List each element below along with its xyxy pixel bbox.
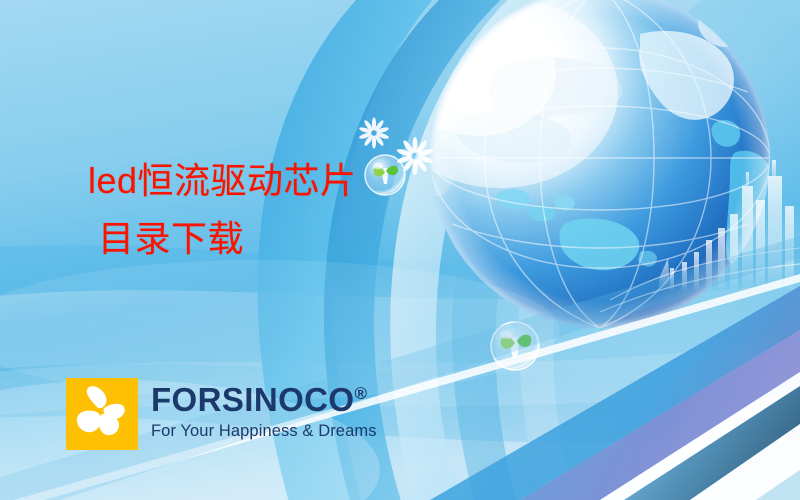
four-petal-flower-icon xyxy=(66,378,138,450)
logo-mark-tile xyxy=(66,378,138,450)
headline-line-1: led恒流驱动芯片 xyxy=(88,163,357,199)
brand-name-text: FORSINOCO xyxy=(151,381,354,418)
brand-tagline: For Your Happiness & Dreams xyxy=(151,423,377,440)
brand-name: FORSINOCO® xyxy=(151,383,377,416)
poster-canvas: led恒流驱动芯片 目录下载 FORSINOCO® For Your Happ xyxy=(0,0,800,500)
bubble-sprout-icon xyxy=(365,155,405,195)
registered-trademark-icon: ® xyxy=(354,384,367,403)
brand-text: FORSINOCO® For Your Happiness & Dreams xyxy=(151,383,377,440)
headline-block: led恒流驱动芯片 目录下载 xyxy=(88,163,357,257)
brand-logo-lockup: FORSINOCO® For Your Happiness & Dreams xyxy=(66,378,377,450)
headline-line-2: 目录下载 xyxy=(98,221,357,257)
